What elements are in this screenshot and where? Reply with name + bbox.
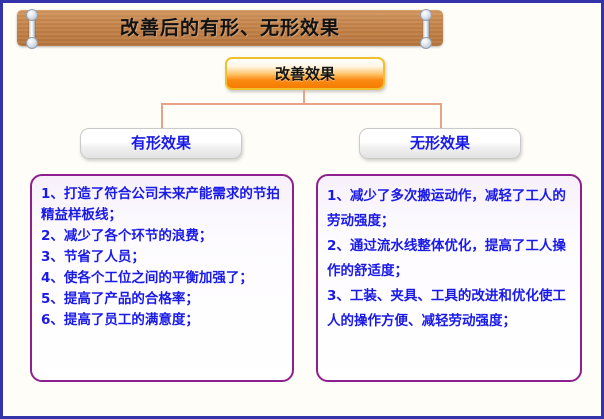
list-item: 5、提高了产品的合格率； (41, 289, 283, 310)
title-banner: 改善后的有形、无形效果 (17, 10, 443, 46)
category-box-intangible: 无形效果 (359, 128, 521, 159)
banner-pin-left-icon (26, 9, 38, 49)
slide-canvas: 改善后的有形、无形效果 改善效果 有形效果 无形效果 1、打造了符合公司未来产能… (0, 0, 604, 419)
list-item: 6、提高了员工的满意度； (41, 310, 283, 331)
pin-cap-bottom (420, 37, 432, 49)
connector-drop-right (440, 103, 442, 128)
content-panel-intangible: 1、减少了多次搬运动作，减轻了工人的劳动强度； 2、通过流水线整体优化，提高了工… (316, 174, 582, 382)
list-item: 3、工装、夹具、工具的改进和优化使工人的操作方便、减轻劳动强度； (327, 284, 571, 334)
pin-cap-bottom (26, 37, 38, 49)
connector-stem (303, 90, 305, 104)
list-item: 1、打造了符合公司未来产能需求的节拍精益样板线； (41, 184, 283, 226)
list-item: 2、减少了各个环节的浪费； (41, 226, 283, 247)
list-item: 4、使各个工位之间的平衡加强了； (41, 268, 283, 289)
category-box-tangible: 有形效果 (80, 128, 242, 159)
connector-horizontal-bar (161, 103, 442, 105)
list-item: 3、节省了人员； (41, 247, 283, 268)
connector-drop-left (161, 103, 163, 128)
list-item: 1、减少了多次搬运动作，减轻了工人的劳动强度； (327, 184, 571, 234)
pin-cap-top (26, 9, 38, 21)
content-panel-tangible: 1、打造了符合公司未来产能需求的节拍精益样板线； 2、减少了各个环节的浪费； 3… (30, 174, 294, 382)
list-item: 2、通过流水线整体优化，提高了工人操作的舒适度； (327, 234, 571, 284)
banner-pin-right-icon (420, 9, 432, 49)
page-title: 改善后的有形、无形效果 (17, 10, 443, 46)
root-node-improvement-effect: 改善效果 (225, 57, 385, 90)
pin-cap-top (420, 9, 432, 21)
